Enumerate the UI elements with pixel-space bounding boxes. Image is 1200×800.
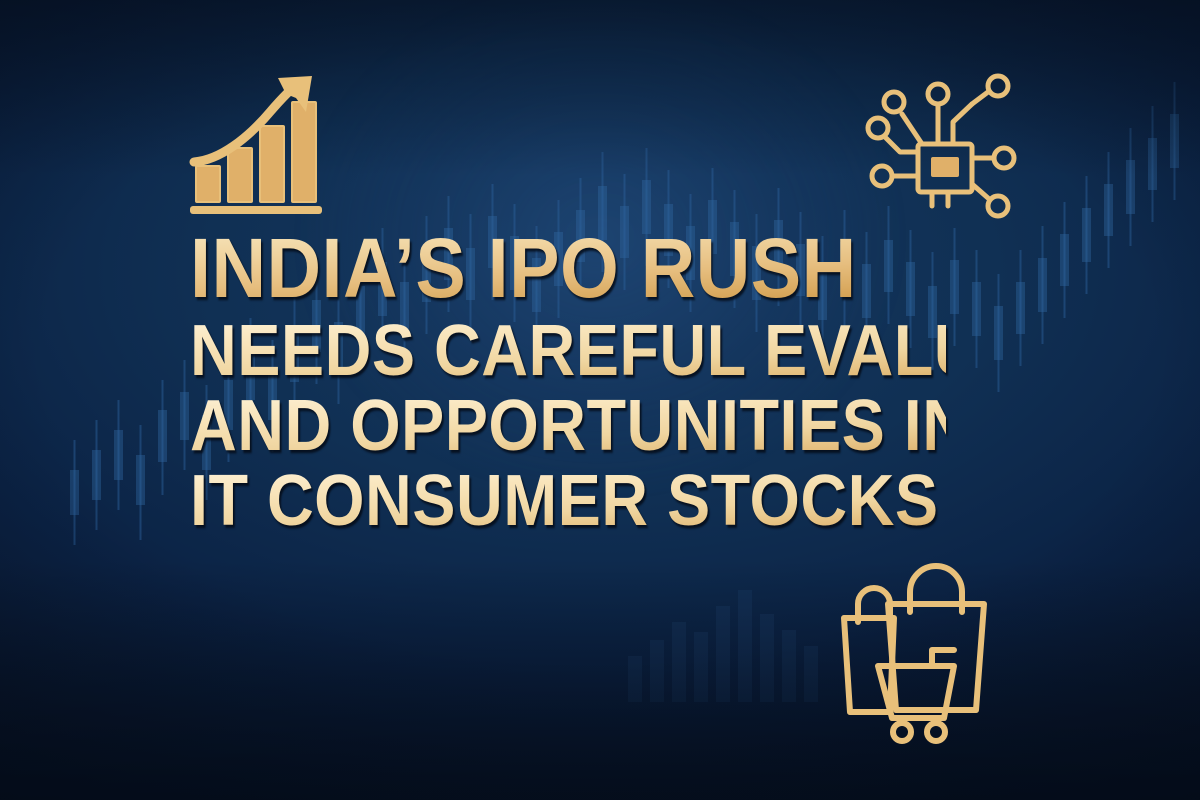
- headline-line-2: NEEDS CAREFUL EVALUATION: [190, 317, 946, 386]
- page-title: INDIA’S IPO RUSH NEEDS CAREFUL EVALUATIO…: [190, 228, 1030, 536]
- headline-line-3: AND OPPORTUNITIES IN: [190, 392, 946, 461]
- news-banner: INDIA’S IPO RUSH NEEDS CAREFUL EVALUATIO…: [0, 0, 1200, 800]
- shopping-bags-cart-icon: [832, 560, 1022, 740]
- headline-line-1: INDIA’S IPO RUSH: [190, 228, 946, 309]
- circuit-microchip-icon: [860, 66, 1028, 218]
- headline-line-4: IT CONSUMER STOCKS: [190, 467, 946, 536]
- growth-bar-chart-arrow-icon: [186, 74, 326, 220]
